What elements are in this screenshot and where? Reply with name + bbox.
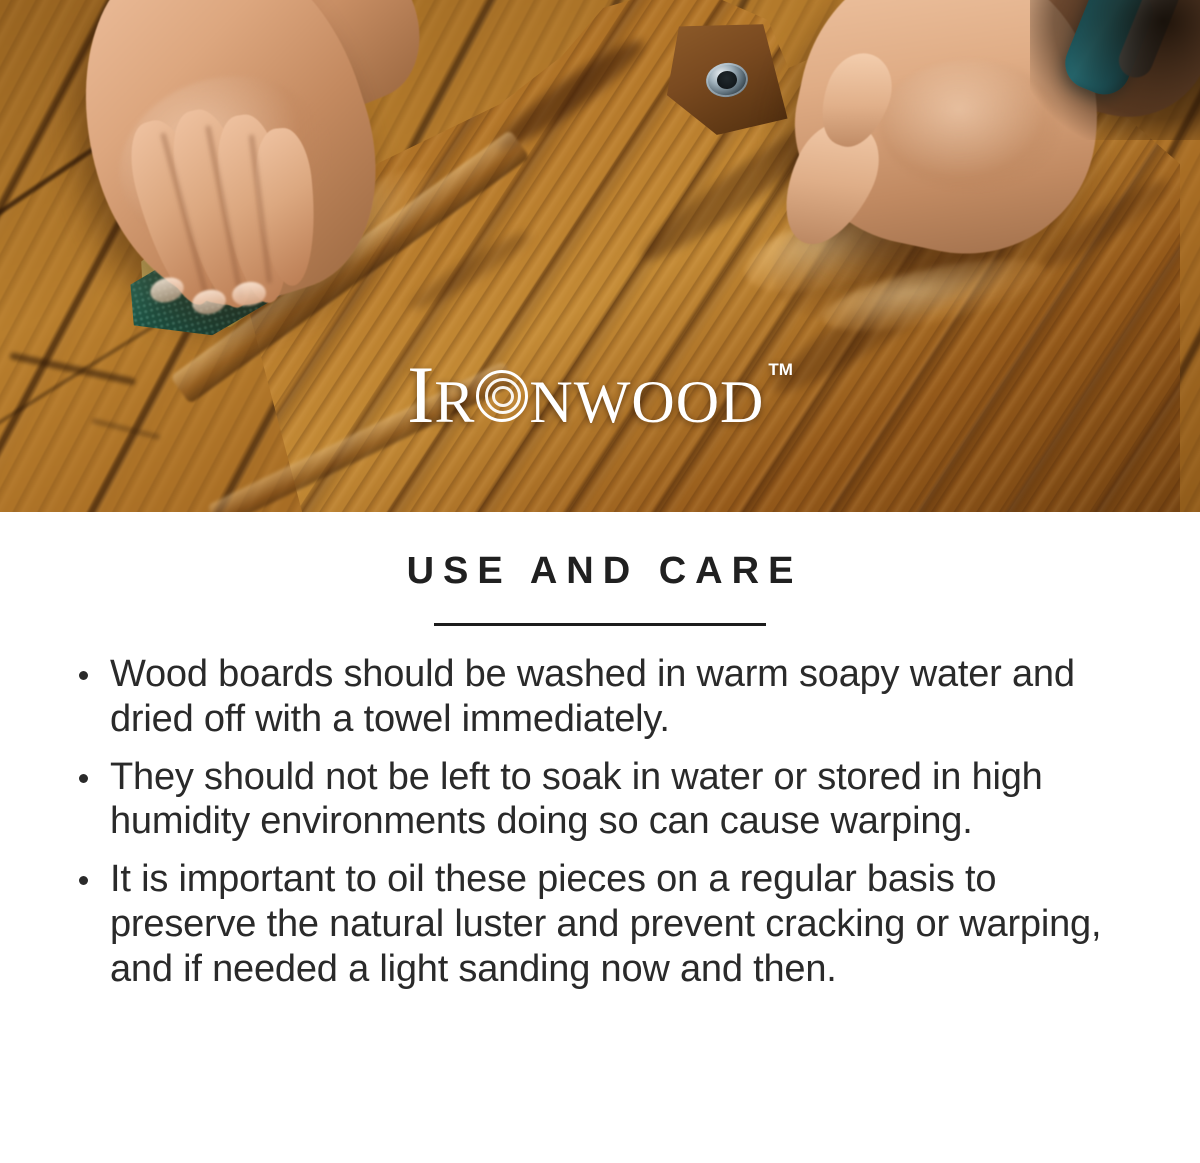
hero-photo: I R NWOOD TM: [0, 0, 1200, 512]
list-item: They should not be left to soak in water…: [76, 755, 1130, 845]
list-item: Wood boards should be washed in warm soa…: [76, 652, 1130, 742]
care-instructions-list: Wood boards should be washed in warm soa…: [0, 626, 1200, 992]
hero-photo-background: [0, 0, 1200, 512]
photo-dark-corner: [1030, 0, 1200, 140]
list-item: It is important to oil these pieces on a…: [76, 857, 1130, 991]
section-heading: USE AND CARE: [0, 512, 1200, 593]
use-and-care-page: I R NWOOD TM USE AND CARE Wood boards sh…: [0, 0, 1200, 1163]
wood-grain-streak: [405, 225, 535, 318]
use-and-care-section: USE AND CARE Wood boards should be washe…: [0, 512, 1200, 1163]
